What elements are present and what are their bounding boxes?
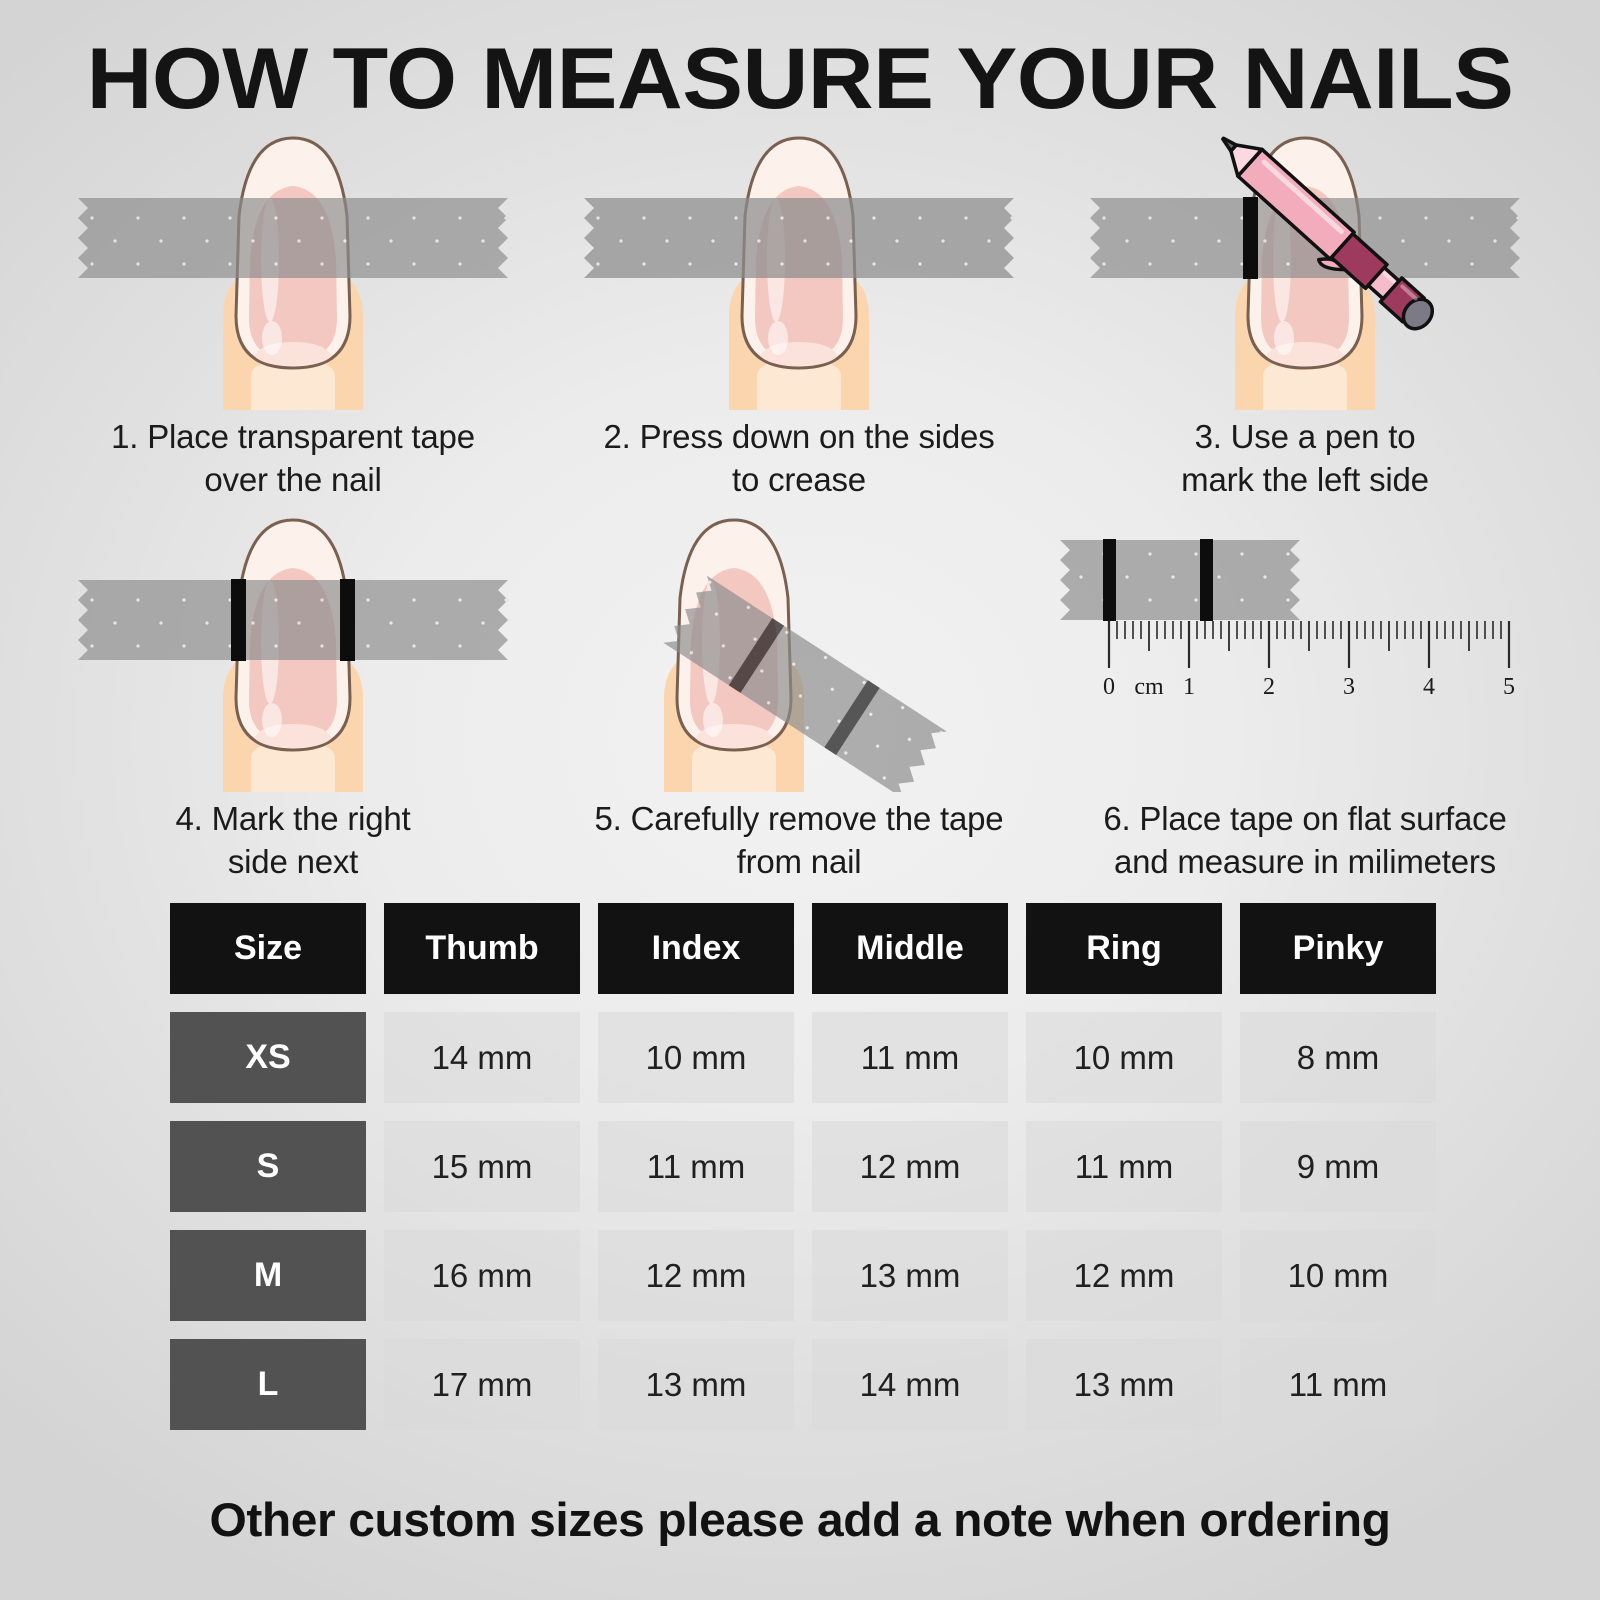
ruler-tick-2: 2 xyxy=(1263,674,1275,700)
cell-s-index: 11 mm xyxy=(598,1121,794,1212)
left-mark xyxy=(1243,197,1258,279)
ruler-labels: 0 cm 1 2 3 4 5 xyxy=(1103,674,1515,700)
steps-row-2: 4. Mark the right side next xyxy=(40,502,1560,884)
cell-l-ring: 13 mm xyxy=(1026,1339,1222,1430)
cell-m-middle: 13 mm xyxy=(812,1230,1008,1321)
table-row: S 15 mm 11 mm 12 mm 11 mm 9 mm xyxy=(170,1121,1464,1212)
step-2-illustration xyxy=(546,120,1052,410)
step-5-caption-line-1: 5. Carefully remove the tape xyxy=(566,798,1032,841)
step-4: 4. Mark the right side next xyxy=(40,502,546,884)
column-header-size: Size xyxy=(170,903,366,994)
ruler-tick-0: 0 xyxy=(1103,674,1115,700)
ruler-tick-3: 3 xyxy=(1343,674,1355,700)
cell-xs-pinky: 8 mm xyxy=(1240,1012,1436,1103)
step-4-caption-line-2: side next xyxy=(60,841,526,884)
step-5-caption-line-2: from nail xyxy=(566,841,1032,884)
cell-s-ring: 11 mm xyxy=(1026,1121,1222,1212)
step-6-illustration: 0 cm 1 2 3 4 5 xyxy=(1052,502,1558,792)
column-header-thumb: Thumb xyxy=(384,903,580,994)
step-6-caption-line-2: and measure in milimeters xyxy=(1072,841,1538,884)
step-5-illustration xyxy=(546,502,1052,792)
step-3: 3. Use a pen to mark the left side xyxy=(1052,120,1558,502)
size-label-l: L xyxy=(170,1339,366,1430)
step-5: 5. Carefully remove the tape from nail xyxy=(546,502,1052,884)
size-label-xs: XS xyxy=(170,1012,366,1103)
step-6: 0 cm 1 2 3 4 5 6. Place tape on flat sur… xyxy=(1052,502,1558,884)
column-header-index: Index xyxy=(598,903,794,994)
cell-xs-index: 10 mm xyxy=(598,1012,794,1103)
cell-l-pinky: 11 mm xyxy=(1240,1339,1436,1430)
cell-l-index: 13 mm xyxy=(598,1339,794,1430)
step-4-caption-line-1: 4. Mark the right xyxy=(60,798,526,841)
step-3-illustration xyxy=(1052,120,1558,410)
ruler-tick-4: 4 xyxy=(1423,674,1435,700)
tape-strip xyxy=(78,198,508,278)
cell-xs-middle: 11 mm xyxy=(812,1012,1008,1103)
cell-m-ring: 12 mm xyxy=(1026,1230,1222,1321)
size-table: Size Thumb Index Middle Ring Pinky XS 14… xyxy=(170,903,1464,1448)
step-1-illustration xyxy=(40,120,546,410)
step-3-caption: 3. Use a pen to mark the left side xyxy=(1052,416,1558,502)
step-5-caption: 5. Carefully remove the tape from nail xyxy=(546,798,1052,884)
step-6-caption: 6. Place tape on flat surface and measur… xyxy=(1052,798,1558,884)
cell-s-middle: 12 mm xyxy=(812,1121,1008,1212)
step-3-caption-line-2: mark the left side xyxy=(1072,459,1538,502)
table-row: L 17 mm 13 mm 14 mm 13 mm 11 mm xyxy=(170,1339,1464,1430)
column-header-ring: Ring xyxy=(1026,903,1222,994)
step-1: 1. Place transparent tape over the nail xyxy=(40,120,546,502)
step-1-caption-line-1: 1. Place transparent tape xyxy=(60,416,526,459)
ruler-tick-1: 1 xyxy=(1183,674,1195,700)
tape-strip-flat xyxy=(1060,540,1300,620)
step-2-caption-line-2: to crease xyxy=(566,459,1032,502)
cell-m-pinky: 10 mm xyxy=(1240,1230,1436,1321)
cell-xs-ring: 10 mm xyxy=(1026,1012,1222,1103)
page-title: HOW TO MEASURE YOUR NAILS xyxy=(0,30,1600,129)
step-2: 2. Press down on the sides to crease xyxy=(546,120,1052,502)
cell-s-thumb: 15 mm xyxy=(384,1121,580,1212)
step-2-caption-line-1: 2. Press down on the sides xyxy=(566,416,1032,459)
ruler-unit-label: cm xyxy=(1134,674,1164,700)
size-label-s: S xyxy=(170,1121,366,1212)
step-3-caption-line-1: 3. Use a pen to xyxy=(1072,416,1538,459)
steps-section: 1. Place transparent tape over the nail xyxy=(40,120,1560,884)
step-4-caption: 4. Mark the right side next xyxy=(40,798,546,884)
ruler-tick-5: 5 xyxy=(1503,674,1515,700)
footer-note: Other custom sizes please add a note whe… xyxy=(0,1492,1600,1547)
cell-l-thumb: 17 mm xyxy=(384,1339,580,1430)
table-row: XS 14 mm 10 mm 11 mm 10 mm 8 mm xyxy=(170,1012,1464,1103)
right-mark xyxy=(340,579,355,661)
table-header-row: Size Thumb Index Middle Ring Pinky xyxy=(170,903,1464,994)
tape-strip-creased xyxy=(584,198,1014,278)
left-mark xyxy=(231,579,246,661)
table-row: M 16 mm 12 mm 13 mm 12 mm 10 mm xyxy=(170,1230,1464,1321)
step-1-caption-line-2: over the nail xyxy=(60,459,526,502)
cell-m-thumb: 16 mm xyxy=(384,1230,580,1321)
cell-l-middle: 14 mm xyxy=(812,1339,1008,1430)
cell-m-index: 12 mm xyxy=(598,1230,794,1321)
size-label-m: M xyxy=(170,1230,366,1321)
ruler xyxy=(1109,621,1509,668)
column-header-pinky: Pinky xyxy=(1240,903,1436,994)
step-2-caption: 2. Press down on the sides to crease xyxy=(546,416,1052,502)
left-mark xyxy=(1103,539,1116,621)
tape-strip xyxy=(78,580,508,660)
steps-row-1: 1. Place transparent tape over the nail xyxy=(40,120,1560,502)
column-header-middle: Middle xyxy=(812,903,1008,994)
infographic-page: HOW TO MEASURE YOUR NAILS xyxy=(0,0,1600,1600)
step-6-caption-line-1: 6. Place tape on flat surface xyxy=(1072,798,1538,841)
right-mark xyxy=(1200,539,1213,621)
step-4-illustration xyxy=(40,502,546,792)
step-1-caption: 1. Place transparent tape over the nail xyxy=(40,416,546,502)
cell-xs-thumb: 14 mm xyxy=(384,1012,580,1103)
cell-s-pinky: 9 mm xyxy=(1240,1121,1436,1212)
